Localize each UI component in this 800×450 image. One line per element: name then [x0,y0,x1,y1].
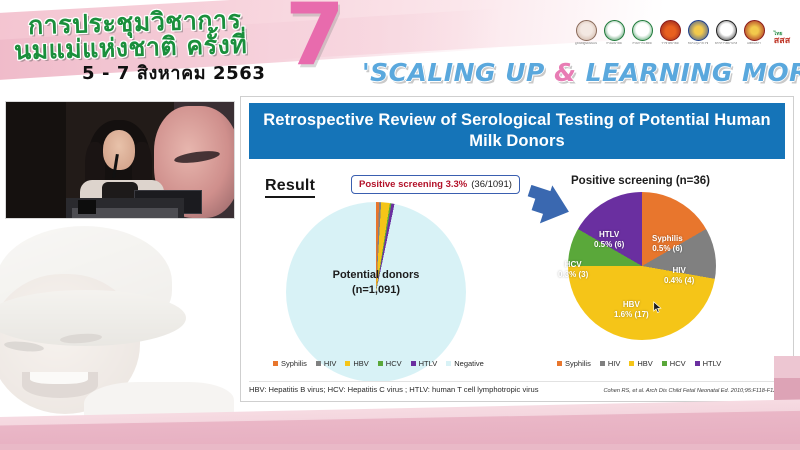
legend-item-hbv: HBV [345,359,368,368]
footer-band-baseline [0,444,800,450]
logo-nurse-council-icon: สภาการพยาบาล [714,20,738,46]
abbreviation-footnote: HBV: Hepatitis B virus; HCV: Hepatitis C… [249,385,539,394]
logo-thaihealth-icon: ไทยสสส [770,20,794,46]
slice-label-hiv: HIV 0.4% (4) [664,266,694,287]
legend-positive-screening: Syphilis HIV HBV HCV HTLV [557,359,721,368]
legend-item-syphilis-right: Syphilis [557,359,591,368]
slide-footnote-row: HBV: Hepatitis B virus; HCV: Hepatitis C… [249,381,785,394]
result-heading: Result [265,177,315,198]
potential-donors-center-label: Potential donors (n=1,091) [286,268,466,298]
logo-pediatric-society-icon: ชมรมกุมารเวช [686,20,710,46]
sponsor-logos: มูลนิธิศูนย์นมแม่ กรมอนามัย กรมการแพทย์ … [574,20,794,46]
tagline-part2: LEARNING MORE' [576,58,800,87]
potential-donors-pie-chart: Potential donors (n=1,091) [286,202,466,382]
legend-item-hcv-right: HCV [662,359,686,368]
legend-item-negative: Negative [446,359,484,368]
presentation-slide: Retrospective Review of Serological Test… [240,96,794,402]
legend-potential-donors: Syphilis HIV HBV HCV HTLV Negative [273,359,484,368]
slice-label-syphilis: Syphilis 0.5% (6) [652,234,683,255]
positive-screening-pie-chart: Syphilis 0.5% (6) HIV 0.4% (4) HBV 1.6% … [568,192,716,340]
legend-item-hiv: HIV [316,359,337,368]
legend-item-syphilis: Syphilis [273,359,307,368]
legend-item-hbv-right: HBV [629,359,652,368]
slide-title: Retrospective Review of Serological Test… [249,103,785,159]
positive-screening-chart-heading: Positive screening (n=36) [571,175,710,187]
speaker-face [103,130,135,170]
mouse-cursor-icon [653,301,662,314]
screenshot-stage: การประชุมวิชาการ นมแม่แห่งชาติ ครั้งที่ … [0,0,800,450]
reference-citation: Cohen RS, et al. Arch Dis Child Fetal Ne… [603,388,785,394]
legend-item-hcv: HCV [378,359,402,368]
slice-label-hcv: HCV 0.3% (3) [558,260,588,281]
tagline-part1: 'SCALING UP [362,58,554,87]
legend-item-hiv-right: HIV [600,359,621,368]
blue-arrow-icon [524,185,572,231]
conference-banner: การประชุมวิชาการ นมแม่แห่งชาติ ครั้งที่ … [0,0,800,93]
logo-royal-college-icon: ราชวิทยาลัย [658,20,682,46]
logo-medical-council-icon: แพทยสภา [742,20,766,46]
video-background-left [6,102,66,218]
footer-pink-band [0,398,800,450]
slice-label-htlv: HTLV 0.5% (6) [594,230,624,251]
conference-edition-number: 7 [285,0,345,78]
callout-highlight-text: Positive screening 3.3% [359,179,467,190]
slice-label-hbv: HBV 1.6% (17) [614,300,649,321]
legend-item-htlv: HTLV [411,359,438,368]
potential-donors-label-line2: (n=1,091) [286,283,466,298]
conference-date: 5 - 7 สิงหาคม 2563 [82,58,266,87]
positive-screening-callout: Positive screening 3.3% (36/1091) [351,175,520,194]
tagline-ampersand: & [554,58,576,87]
legend-item-htlv-right: HTLV [695,359,722,368]
callout-detail-text: (36/1091) [471,179,512,190]
logo-foundation-icon: มูลนิธิศูนย์นมแม่ [574,20,598,46]
child-teeth [30,372,88,384]
potential-donors-label-line1: Potential donors [286,268,466,283]
logo-ministry-health-2-icon: กรมการแพทย์ [630,20,654,46]
logo-ministry-health-1-icon: กรมอนามัย [602,20,626,46]
podium-panel [78,200,96,214]
speaker-video-thumbnail[interactable] [5,101,235,219]
conference-tagline: 'SCALING UP & LEARNING MORE' [362,58,800,87]
